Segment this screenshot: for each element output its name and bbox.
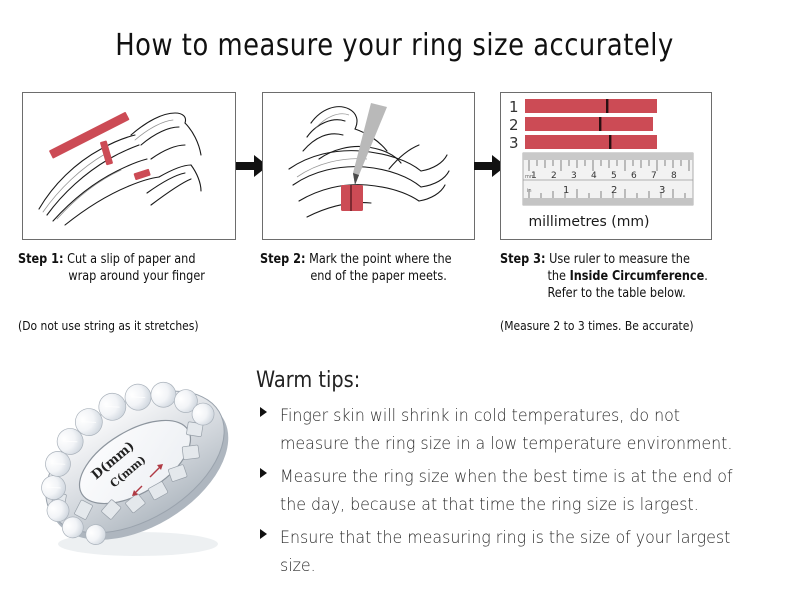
measured-paper-strips	[525, 99, 657, 149]
tip-item: Ensure that the measuring ring is the si…	[258, 524, 778, 580]
warm-tips-list: Finger skin will shrink in cold temperat…	[258, 402, 778, 585]
triangle-bullet-icon	[260, 529, 267, 539]
strip-number-1: 1	[509, 98, 519, 116]
step-2-line1: Mark the point where the	[309, 252, 451, 267]
inside-circumference-emphasis: Inside Circumference	[570, 269, 705, 284]
tip-text: Measure the ring size when the best time…	[280, 463, 743, 519]
step-3-line2-post: .	[704, 269, 708, 284]
cm-tick-2: 2	[551, 171, 557, 181]
cm-tick-4: 4	[591, 171, 597, 181]
step-1-note: (Do not use string as it stretches)	[18, 318, 199, 333]
page-title: How to measure your ring size accurately	[55, 28, 734, 63]
step-3-line3: Refer to the table below.	[500, 285, 757, 302]
cm-tick-7: 7	[651, 171, 657, 181]
ring-diagram: D(mm) C(mm)	[22, 358, 248, 570]
step-1-line2: wrap around your finger	[18, 268, 256, 285]
hand-marking-paper-drawing	[263, 93, 474, 239]
step-2-label: Step 2:	[260, 252, 305, 267]
ruler-graphic: 1 2 3 4 5 6 7 8 mm 1 2 3 in	[523, 153, 693, 205]
tip-item: Measure the ring size when the best time…	[258, 463, 778, 519]
step-2-line2: end of the paper meets.	[260, 268, 498, 285]
cm-tick-8: 8	[671, 171, 677, 181]
triangle-bullet-icon	[260, 407, 267, 417]
hand-with-paper-slip-drawing	[23, 93, 235, 239]
tip-item: Finger skin will shrink in cold temperat…	[258, 402, 778, 458]
cm-tick-3: 3	[571, 171, 577, 181]
tip-text: Ensure that the measuring ring is the si…	[280, 524, 743, 580]
step-1-line1: Cut a slip of paper and	[67, 252, 195, 267]
ruler-unit-caption: millimetres (mm)	[529, 214, 650, 230]
step-3-note: (Measure 2 to 3 times. Be accurate)	[500, 318, 694, 333]
cm-unit-label: mm	[525, 174, 535, 180]
step-3-illustration-panel: 1 2 3	[500, 92, 712, 240]
paper-slip-red-marked	[341, 185, 363, 211]
warm-tips-heading: Warm tips:	[256, 368, 360, 393]
step-3-label: Step 3:	[500, 252, 545, 267]
paper-slip-red	[49, 112, 130, 159]
strip-number-2: 2	[509, 116, 519, 134]
ruler-measurement-drawing: 1 2 3	[501, 93, 711, 239]
step-1-caption: Step 1: Cut a slip of paper and wrap aro…	[18, 251, 256, 285]
inch-tick-3: 3	[659, 185, 665, 196]
tip-text: Finger skin will shrink in cold temperat…	[280, 402, 743, 458]
step-3-line2-pre: the	[548, 269, 570, 284]
infographic-root: How to measure your ring size accurately	[0, 0, 789, 606]
step-1-illustration-panel	[22, 92, 236, 240]
cm-tick-5: 5	[611, 171, 617, 181]
step-1-label: Step 1:	[18, 252, 63, 267]
step-2-illustration-panel	[262, 92, 475, 240]
step-3-line1: Use ruler to measure the	[549, 252, 690, 267]
inch-tick-2: 2	[611, 185, 617, 196]
pen-icon	[353, 103, 387, 185]
step-3-line2: the Inside Circumference.	[500, 268, 757, 285]
cm-tick-6: 6	[631, 171, 637, 181]
step-2-caption: Step 2: Mark the point where the end of …	[260, 251, 498, 285]
strip-number-3: 3	[509, 134, 519, 152]
inch-tick-1: 1	[563, 185, 569, 196]
step-3-caption: Step 3: Use ruler to measure the the Ins…	[500, 251, 757, 302]
triangle-bullet-icon	[260, 468, 267, 478]
